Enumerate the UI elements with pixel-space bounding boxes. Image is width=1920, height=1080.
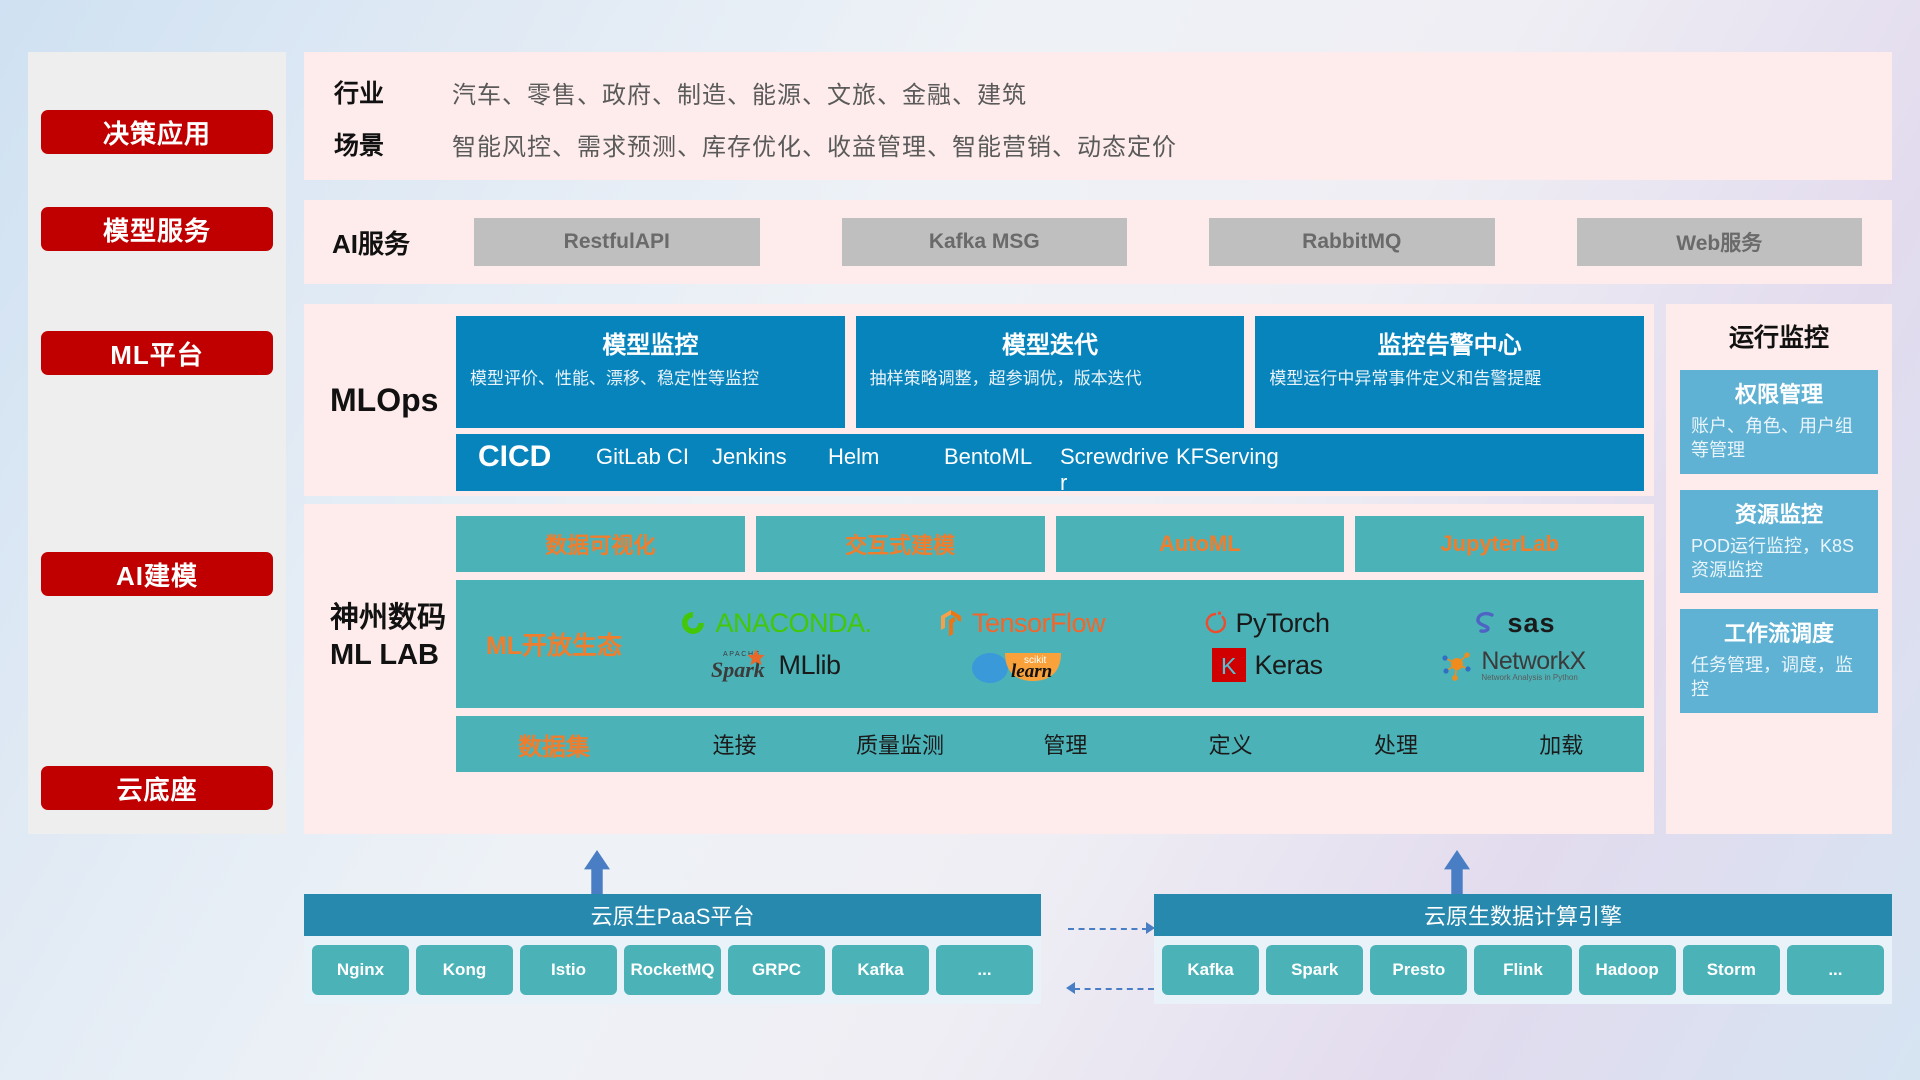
monitor-card-permission[interactable]: 权限管理 账户、角色、用户组等管理 bbox=[1680, 370, 1878, 474]
spark-mllib-logo[interactable]: APACHE Spark MLlib bbox=[709, 645, 840, 685]
svg-text:K: K bbox=[1221, 653, 1237, 679]
scenario-label: 场景 bbox=[334, 126, 452, 162]
mlops-card-title: 模型迭代 bbox=[1002, 325, 1098, 360]
ai-service-chip-list: RestfulAPI Kafka MSG RabbitMQ Web服务 bbox=[474, 218, 1892, 266]
scenario-values: 智能风控、需求预测、库存优化、收益管理、智能营销、动态定价 bbox=[452, 127, 1177, 162]
ml-lab-label-line1: 神州数码 bbox=[330, 600, 470, 637]
engine-chip-flink[interactable]: Flink bbox=[1474, 945, 1571, 995]
layer-chip-model-service[interactable]: 模型服务 bbox=[41, 207, 273, 251]
cloud-chip-kong[interactable]: Kong bbox=[416, 945, 513, 995]
cloud-engine-chip-list: Kafka Spark Presto Flink Hadoop Storm ..… bbox=[1154, 936, 1892, 1004]
monitor-card-title: 资源监控 bbox=[1691, 497, 1867, 529]
dataset-title: 数据集 bbox=[456, 727, 652, 762]
ml-lab-band: 神州数码 ML LAB 数据可视化 交互式建模 AutoML JupyterLa… bbox=[304, 504, 1654, 834]
pytorch-wordmark: PyTorch bbox=[1235, 608, 1329, 639]
up-arrow-paas-icon bbox=[584, 850, 610, 896]
dataset-row: 数据集 连接 质量监测 管理 定义 处理 加载 bbox=[456, 716, 1644, 772]
cloud-engine-title: 云原生数据计算引擎 bbox=[1154, 894, 1892, 936]
mlops-card-list: 模型监控 模型评价、性能、漂移、稳定性等监控 模型迭代 抽样策略调整，超参调优，… bbox=[456, 316, 1644, 428]
monitor-card-workflow[interactable]: 工作流调度 任务管理，调度，监控 bbox=[1680, 609, 1878, 713]
layer-chip-cloud-base[interactable]: 云底座 bbox=[41, 766, 273, 810]
cloud-chip-istio[interactable]: Istio bbox=[520, 945, 617, 995]
cicd-item-jenkins[interactable]: Jenkins bbox=[712, 434, 828, 470]
cloud-chip-more[interactable]: ... bbox=[936, 945, 1033, 995]
pytorch-icon bbox=[1204, 608, 1228, 638]
ml-lab-label-line2: ML LAB bbox=[330, 637, 470, 674]
cloud-native-data-engine-group: 云原生数据计算引擎 Kafka Spark Presto Flink Hadoo… bbox=[1154, 894, 1892, 1004]
cicd-item-bentoml[interactable]: BentoML bbox=[944, 434, 1060, 470]
engine-chip-kafka[interactable]: Kafka bbox=[1162, 945, 1259, 995]
networkx-wordmark: NetworkX bbox=[1481, 649, 1585, 674]
keras-icon: K bbox=[1211, 647, 1247, 683]
cloud-foundation: 云原生PaaS平台 Nginx Kong Istio RocketMQ GRPC… bbox=[304, 868, 1892, 1028]
layer-chip-ml-platform[interactable]: ML平台 bbox=[41, 331, 273, 375]
runtime-monitor-title: 运行监控 bbox=[1666, 304, 1892, 354]
anaconda-logo[interactable]: ANACONDA. bbox=[678, 608, 871, 639]
dataset-item-process[interactable]: 处理 bbox=[1313, 728, 1478, 760]
mllib-wordmark: MLlib bbox=[778, 650, 840, 681]
ai-service-chip-web-service[interactable]: Web服务 bbox=[1577, 218, 1863, 266]
ml-lab-tool-data-visualization[interactable]: 数据可视化 bbox=[456, 516, 745, 572]
cicd-title: CICD bbox=[456, 434, 596, 474]
cicd-strip: CICD GitLab CI Jenkins Helm BentoML Scre… bbox=[456, 434, 1644, 491]
apache-spark-icon: APACHE Spark bbox=[709, 645, 771, 685]
dashed-connector-left bbox=[1074, 988, 1154, 990]
industry-values: 汽车、零售、政府、制造、能源、文旅、金融、建筑 bbox=[452, 75, 1027, 110]
monitor-card-resource[interactable]: 资源监控 POD运行监控，K8S资源监控 bbox=[1680, 490, 1878, 594]
dataset-item-load[interactable]: 加载 bbox=[1479, 728, 1644, 760]
monitor-card-desc: 任务管理，调度，监控 bbox=[1691, 653, 1867, 702]
ai-service-band: AI服务 RestfulAPI Kafka MSG RabbitMQ Web服务 bbox=[304, 200, 1892, 284]
decision-application-band: 行业 汽车、零售、政府、制造、能源、文旅、金融、建筑 场景 智能风控、需求预测、… bbox=[304, 52, 1892, 180]
dataset-item-manage[interactable]: 管理 bbox=[983, 728, 1148, 760]
mlops-card-model-iteration[interactable]: 模型迭代 抽样策略调整，超参调优，版本迭代 bbox=[856, 316, 1245, 428]
ai-service-chip-restfulapi[interactable]: RestfulAPI bbox=[474, 218, 760, 266]
scenario-row: 场景 智能风控、需求预测、库存优化、收益管理、智能营销、动态定价 bbox=[334, 126, 1872, 162]
ai-service-chip-kafka-msg[interactable]: Kafka MSG bbox=[842, 218, 1128, 266]
sas-logo[interactable]: sas bbox=[1470, 608, 1555, 639]
mlops-band: MLOps 模型监控 模型评价、性能、漂移、稳定性等监控 模型迭代 抽样策略调整… bbox=[304, 304, 1654, 496]
anaconda-icon bbox=[678, 608, 708, 638]
networkx-icon bbox=[1440, 649, 1474, 681]
cicd-item-helm[interactable]: Helm bbox=[828, 434, 944, 470]
monitor-card-title: 权限管理 bbox=[1691, 377, 1867, 409]
ml-open-ecosystem: ML开放生态 ANACONDA. bbox=[456, 580, 1644, 708]
sas-wordmark: sas bbox=[1507, 608, 1555, 639]
engine-chip-storm[interactable]: Storm bbox=[1683, 945, 1780, 995]
cloud-paas-title: 云原生PaaS平台 bbox=[304, 894, 1041, 936]
svg-text:learn: learn bbox=[1011, 661, 1052, 682]
layer-chip-ai-modeling[interactable]: AI建模 bbox=[41, 552, 273, 596]
architecture-board: 行业 汽车、零售、政府、制造、能源、文旅、金融、建筑 场景 智能风控、需求预测、… bbox=[304, 52, 1892, 834]
ml-lab-tool-list: 数据可视化 交互式建模 AutoML JupyterLab bbox=[456, 516, 1644, 572]
cloud-chip-grpc[interactable]: GRPC bbox=[728, 945, 825, 995]
tensorflow-logo[interactable]: TensorFlow bbox=[937, 608, 1105, 639]
keras-wordmark: Keras bbox=[1254, 650, 1322, 681]
cloud-chip-rocketmq[interactable]: RocketMQ bbox=[624, 945, 721, 995]
cloud-native-paas-group: 云原生PaaS平台 Nginx Kong Istio RocketMQ GRPC… bbox=[304, 894, 1041, 1004]
mlops-card-desc: 抽样策略调整，超参调优，版本迭代 bbox=[870, 367, 1231, 390]
networkx-tagline: Network Analysis in Python bbox=[1481, 674, 1585, 682]
ml-lab-content: 数据可视化 交互式建模 AutoML JupyterLab ML开放生态 A bbox=[456, 516, 1644, 822]
cloud-chip-kafka[interactable]: Kafka bbox=[832, 945, 929, 995]
ml-lab-tool-jupyterlab[interactable]: JupyterLab bbox=[1355, 516, 1644, 572]
cloud-paas-chip-list: Nginx Kong Istio RocketMQ GRPC Kafka ... bbox=[304, 936, 1041, 1004]
anaconda-wordmark: ANACONDA. bbox=[715, 608, 871, 639]
mlops-card-title: 模型监控 bbox=[602, 325, 698, 360]
dashed-connector-right bbox=[1068, 928, 1148, 930]
monitor-card-desc: 账户、角色、用户组等管理 bbox=[1691, 414, 1867, 463]
dataset-item-quality-check[interactable]: 质量监测 bbox=[817, 728, 982, 760]
ecosystem-logo-grid: ANACONDA. TensorFlow bbox=[652, 602, 1644, 686]
up-arrow-engine-icon bbox=[1444, 850, 1470, 896]
mlops-card-desc: 模型评价、性能、漂移、稳定性等监控 bbox=[470, 367, 831, 390]
industry-row: 行业 汽车、零售、政府、制造、能源、文旅、金融、建筑 bbox=[334, 74, 1872, 110]
tensorflow-icon bbox=[937, 608, 965, 638]
cicd-item-screwdriver[interactable]: Screwdriver bbox=[1060, 434, 1176, 491]
scikit-learn-icon: scikit learn bbox=[969, 644, 1073, 686]
arrow-head-left-icon bbox=[1066, 982, 1075, 994]
industry-label: 行业 bbox=[334, 74, 452, 110]
tensorflow-wordmark: TensorFlow bbox=[972, 608, 1105, 639]
cloud-chip-nginx[interactable]: Nginx bbox=[312, 945, 409, 995]
monitor-card-title: 工作流调度 bbox=[1691, 616, 1867, 648]
ml-open-ecosystem-title: ML开放生态 bbox=[456, 626, 652, 662]
mlops-card-model-monitoring[interactable]: 模型监控 模型评价、性能、漂移、稳定性等监控 bbox=[456, 316, 845, 428]
layer-rail: 决策应用 模型服务 ML平台 AI建模 云底座 bbox=[28, 52, 286, 834]
engine-chip-hadoop[interactable]: Hadoop bbox=[1579, 945, 1676, 995]
mlops-card-title: 监控告警中心 bbox=[1378, 325, 1522, 360]
ml-lab-label: 神州数码 ML LAB bbox=[330, 600, 470, 674]
dataset-item-connect[interactable]: 连接 bbox=[652, 728, 817, 760]
layer-chip-decision-app[interactable]: 决策应用 bbox=[41, 110, 273, 154]
scikit-learn-logo[interactable]: scikit learn bbox=[969, 644, 1073, 686]
keras-logo[interactable]: K Keras bbox=[1211, 647, 1322, 683]
cicd-item-kfserving[interactable]: KFServing bbox=[1176, 434, 1292, 470]
engine-chip-more[interactable]: ... bbox=[1787, 945, 1884, 995]
cicd-item-gitlab-ci[interactable]: GitLab CI bbox=[596, 434, 712, 470]
runtime-monitor-panel: 运行监控 权限管理 账户、角色、用户组等管理 资源监控 POD运行监控，K8S资… bbox=[1666, 304, 1892, 834]
mlops-card-desc: 模型运行中异常事件定义和告警提醒 bbox=[1269, 367, 1630, 390]
ai-service-chip-rabbitmq[interactable]: RabbitMQ bbox=[1209, 218, 1495, 266]
monitor-card-desc: POD运行监控，K8S资源监控 bbox=[1691, 534, 1867, 583]
engine-chip-presto[interactable]: Presto bbox=[1370, 945, 1467, 995]
dataset-item-define[interactable]: 定义 bbox=[1148, 728, 1313, 760]
pytorch-logo[interactable]: PyTorch bbox=[1204, 608, 1329, 639]
engine-chip-spark[interactable]: Spark bbox=[1266, 945, 1363, 995]
ml-lab-tool-automl[interactable]: AutoML bbox=[1056, 516, 1345, 572]
networkx-logo[interactable]: NetworkX Network Analysis in Python bbox=[1440, 649, 1585, 682]
sas-icon bbox=[1470, 608, 1500, 638]
mlops-card-alert-center[interactable]: 监控告警中心 模型运行中异常事件定义和告警提醒 bbox=[1255, 316, 1644, 428]
ai-service-label: AI服务 bbox=[304, 224, 474, 261]
ml-lab-tool-interactive-modeling[interactable]: 交互式建模 bbox=[756, 516, 1045, 572]
